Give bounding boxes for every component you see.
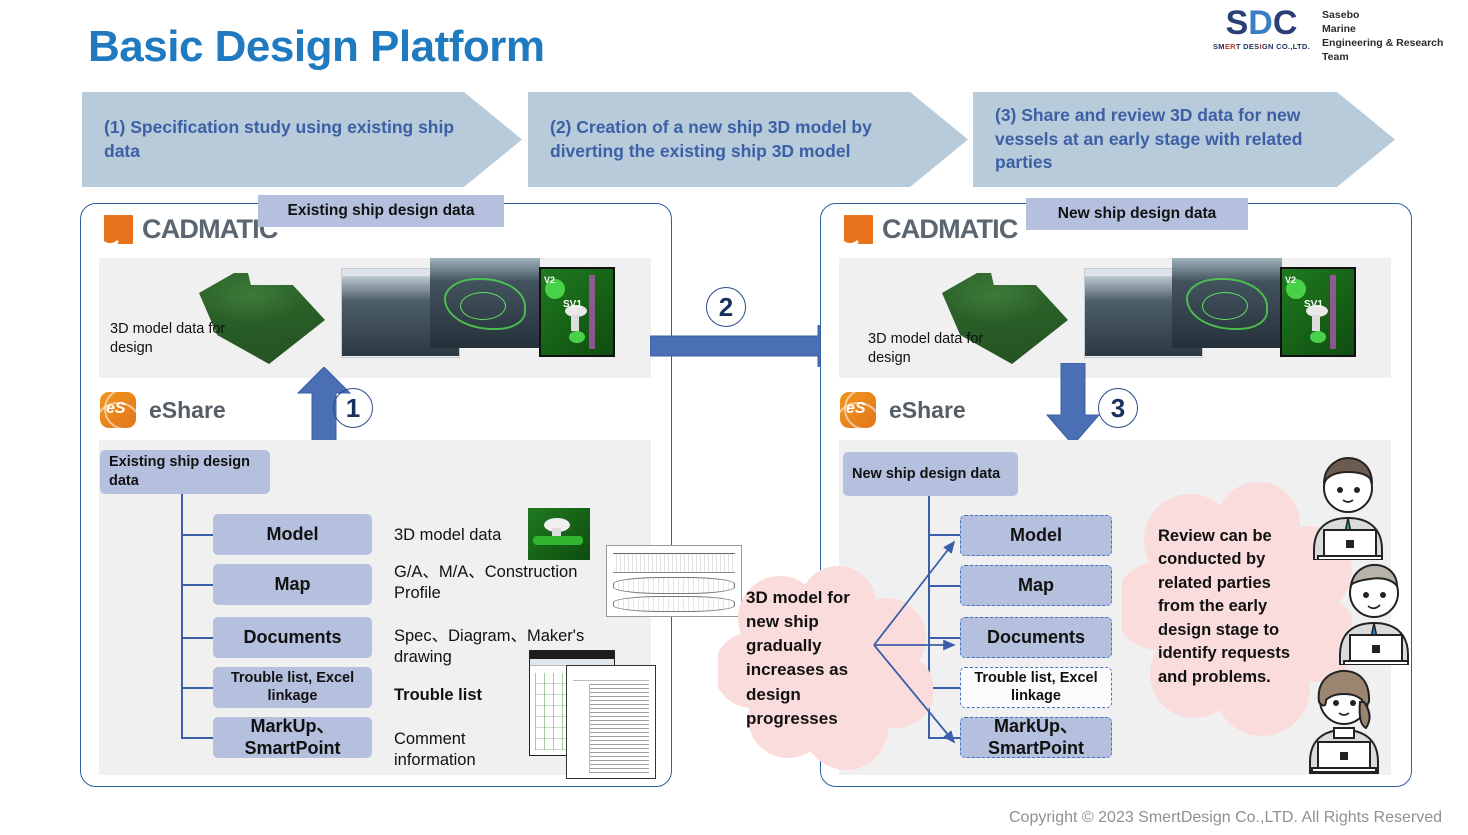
tree-node-left-model[interactable]: Model bbox=[213, 514, 372, 555]
eshare-icon: eS bbox=[100, 392, 136, 428]
person-illustration-1 bbox=[1296, 450, 1400, 565]
step-banner-1: (1) Specification study using existing s… bbox=[82, 92, 522, 187]
flow-arrow-3 bbox=[1045, 363, 1101, 450]
step-banner-3-label: (3) Share and review 3D data for new ves… bbox=[973, 104, 1395, 175]
eshare-icon-text: eS bbox=[846, 400, 866, 418]
tree-node-left-documents[interactable]: Documents bbox=[213, 617, 372, 658]
thumbnail-document-left bbox=[566, 665, 656, 779]
tree-root-left: Existing ship design data bbox=[100, 450, 270, 494]
step-marker-2: 2 bbox=[706, 287, 746, 327]
thumbnail-ocean-left bbox=[430, 258, 540, 348]
company-logo: S D C SMERT DESIGN CO.,LTD. Sasebo Marin… bbox=[1213, 6, 1443, 64]
tree-node-right-markup[interactable]: MarkUp、SmartPoint bbox=[960, 717, 1112, 758]
tree-node-right-map[interactable]: Map bbox=[960, 565, 1112, 606]
copyright-text: Copyright © 2023 SmertDesign Co.,LTD. Al… bbox=[1009, 809, 1442, 827]
tag-existing-ship-design-data: Existing ship design data bbox=[258, 195, 504, 227]
tree-node-left-map[interactable]: Map bbox=[213, 564, 372, 605]
eshare-icon-text: eS bbox=[106, 400, 126, 418]
step-banner-3: (3) Share and review 3D data for new ves… bbox=[973, 92, 1395, 187]
org-line-3: Engineering & Research bbox=[1322, 37, 1443, 51]
tree-branch-left-2 bbox=[181, 584, 213, 586]
org-line-1: Sasebo bbox=[1322, 9, 1443, 23]
cadmatic-wordmark: CADMATIC bbox=[882, 214, 1018, 245]
eshare-icon: eS bbox=[840, 392, 876, 428]
cadmatic-logo-left: CADMATIC bbox=[104, 214, 278, 245]
sdc-letter-d: D bbox=[1248, 6, 1273, 40]
organization-name: Sasebo Marine Engineering & Research Tea… bbox=[1322, 6, 1443, 64]
tree-trunk-left bbox=[181, 494, 183, 737]
tree-branch-left-1 bbox=[181, 534, 213, 536]
tree-node-right-documents[interactable]: Documents bbox=[960, 617, 1112, 658]
thumbnail-piping-left: V2 SV1 bbox=[539, 267, 615, 357]
eshare-logo-left: eS eShare bbox=[100, 392, 226, 428]
org-line-4: Team bbox=[1322, 51, 1443, 65]
sdc-tagline: SMERT DESIGN CO.,LTD. bbox=[1213, 42, 1310, 51]
step-marker-3: 3 bbox=[1098, 388, 1138, 428]
cadmatic-logo-right: CADMATIC bbox=[844, 214, 1018, 245]
desc-left-2: G/A、M/A、Construction Profile bbox=[394, 562, 609, 605]
tree-branch-left-3 bbox=[181, 637, 213, 639]
sdc-letter-c: C bbox=[1273, 6, 1298, 40]
sdc-letters: S D C bbox=[1226, 6, 1298, 40]
person-illustration-2 bbox=[1322, 555, 1426, 670]
thumbnail-valve-left bbox=[528, 508, 590, 560]
cadmatic-icon bbox=[104, 215, 133, 244]
callout-growth-text: 3D model for new ship gradually increase… bbox=[746, 586, 852, 731]
thumbnail-ocean-right bbox=[1172, 258, 1282, 348]
tree-node-left-markup[interactable]: MarkUp、SmartPoint bbox=[213, 717, 372, 758]
tree-root-right: New ship design data bbox=[843, 452, 1018, 496]
tree-node-right-trouble-list[interactable]: Trouble list, Excel linkage bbox=[960, 667, 1112, 708]
eshare-wordmark: eShare bbox=[889, 397, 966, 424]
sdc-logo-mark: S D C SMERT DESIGN CO.,LTD. bbox=[1213, 6, 1310, 51]
tree-node-right-model[interactable]: Model bbox=[960, 515, 1112, 556]
org-line-2: Marine bbox=[1322, 23, 1443, 37]
step-banner-2-label: (2) Creation of a new ship 3D model by d… bbox=[528, 116, 968, 163]
person-illustration-3 bbox=[1292, 662, 1396, 779]
tree-branch-left-5 bbox=[181, 737, 213, 739]
eshare-logo-right: eS eShare bbox=[840, 392, 966, 428]
tree-node-left-trouble-list[interactable]: Trouble list, Excel linkage bbox=[213, 667, 372, 708]
callout-review-text: Review can be conducted by related parti… bbox=[1158, 525, 1310, 689]
sdc-letter-s: S bbox=[1226, 6, 1249, 40]
step-marker-1: 1 bbox=[333, 388, 373, 428]
tree-branch-left-4 bbox=[181, 687, 213, 689]
cadmatic-icon bbox=[844, 215, 873, 244]
strip-label-right: 3D model data for design bbox=[868, 330, 988, 369]
eshare-wordmark: eShare bbox=[149, 397, 226, 424]
thumbnail-piping-right: V2 SV1 bbox=[1280, 267, 1356, 357]
step-banner-2: (2) Creation of a new ship 3D model by d… bbox=[528, 92, 968, 187]
page-title: Basic Design Platform bbox=[88, 22, 545, 72]
step-banner-1-label: (1) Specification study using existing s… bbox=[82, 116, 522, 163]
strip-label-left: 3D model data for design bbox=[110, 320, 230, 359]
tag-new-ship-design-data: New ship design data bbox=[1026, 198, 1248, 230]
desc-left-5: Comment information bbox=[394, 729, 514, 772]
